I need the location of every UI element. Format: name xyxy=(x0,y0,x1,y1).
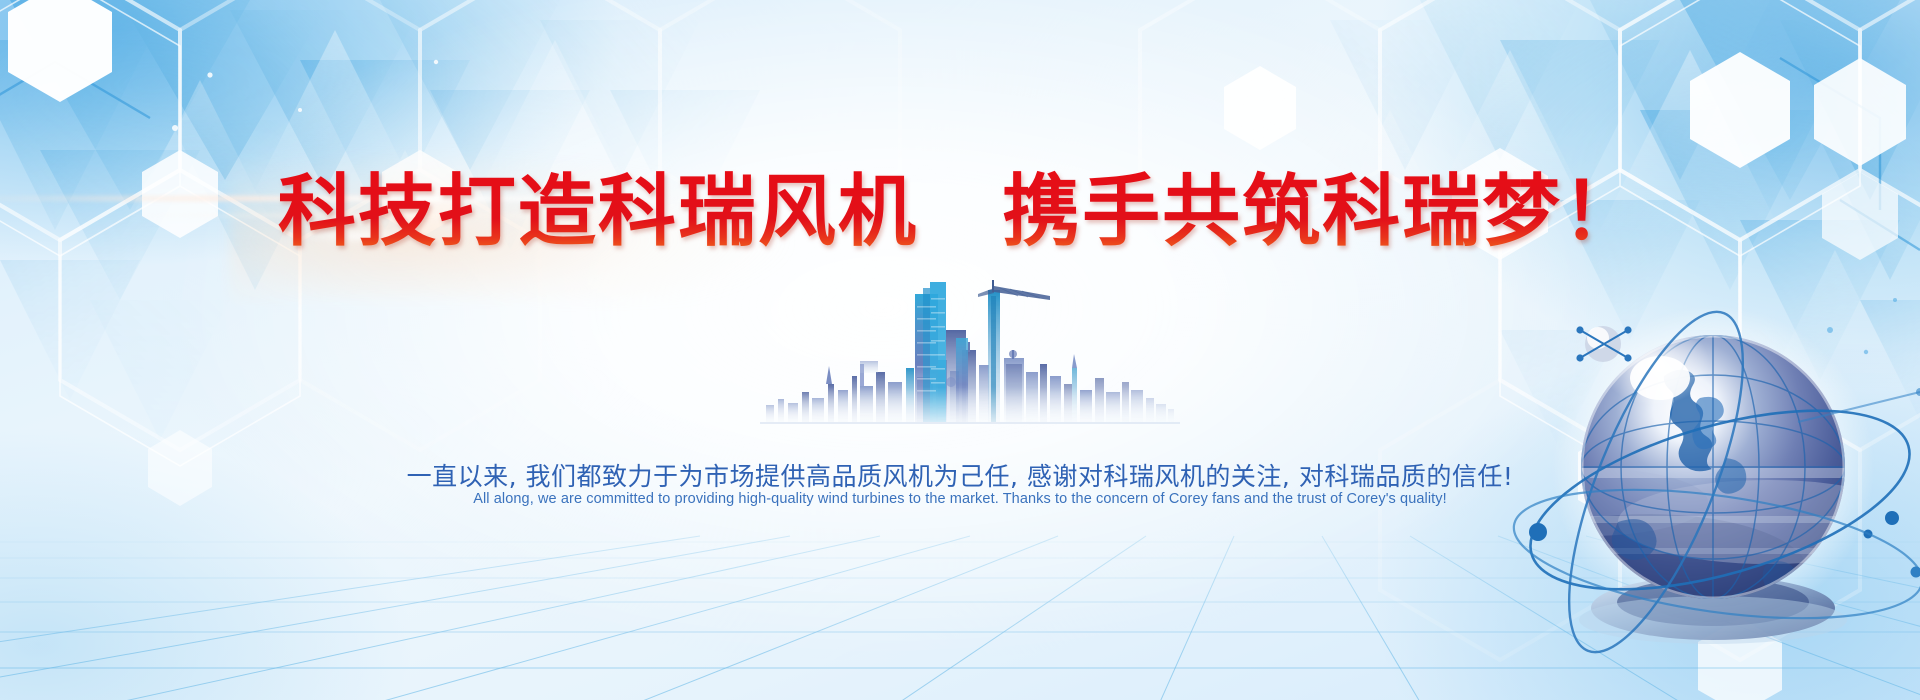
banner: 科技打造科瑞风机 携手共筑科瑞梦！ 一直以来, 我们都致力于为市场提供高品质风机… xyxy=(0,0,1920,700)
page-title: 科技打造科瑞风机 携手共筑科瑞梦！ xyxy=(0,170,1920,254)
background-wash-bottom-left xyxy=(0,0,1920,700)
hexagon-triangle-pattern-icon xyxy=(0,0,1920,700)
city-skyline-icon xyxy=(760,272,1180,432)
background-wash-top-right xyxy=(0,0,1920,700)
center-glow xyxy=(0,0,1920,700)
subtitle-chinese: 一直以来, 我们都致力于为市场提供高品质风机为己任, 感谢对科瑞风机的关注, 对… xyxy=(0,457,1920,493)
background-wash-top-left xyxy=(0,0,1920,700)
background-wash-bottom-right xyxy=(0,0,1920,700)
headline-part-1: 科技打造科瑞风机 xyxy=(278,167,918,257)
satellite-node-icon xyxy=(1576,326,1631,362)
subtitle-english: All along, we are committed to providing… xyxy=(0,491,1920,507)
headline-part-2: 携手共筑科瑞梦！ xyxy=(1002,167,1642,257)
